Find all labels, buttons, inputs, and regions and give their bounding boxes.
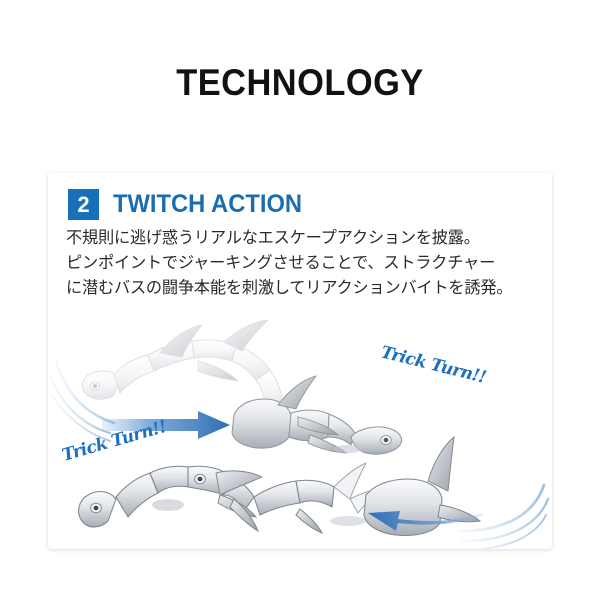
step-number-badge: 2 — [68, 189, 99, 220]
page-title: TECHNOLOGY — [21, 64, 579, 101]
body-line: ピンポイントでジャーキングさせることで、ストラクチャー — [66, 250, 544, 275]
upper-lure — [232, 376, 402, 454]
card-body-copy: 不規則に逃げ惑うリアルなエスケープアクションを披露。 ピンポイントでジャーキング… — [66, 225, 544, 300]
technology-page: TECHNOLOGY 2 TWITCH ACTION 不規則に逃げ惑うリアルなエ… — [0, 0, 600, 600]
lower-lure — [79, 437, 480, 536]
technology-card: 2 TWITCH ACTION 不規則に逃げ惑うリアルなエスケープアクションを披… — [48, 173, 552, 549]
body-line: に潜むバスの闘争本能を刺激してリアクションバイトを誘発。 — [66, 275, 544, 300]
lure-action-illustration: Trick Turn!! Trick Turn!! — [48, 309, 552, 549]
card-heading: TWITCH ACTION — [113, 192, 302, 217]
card-heading-row: 2 TWITCH ACTION — [68, 189, 312, 220]
trick-turn-label-upper: Trick Turn!! — [379, 342, 488, 387]
body-line: 不規則に逃げ惑うリアルなエスケープアクションを披露。 — [66, 225, 544, 250]
